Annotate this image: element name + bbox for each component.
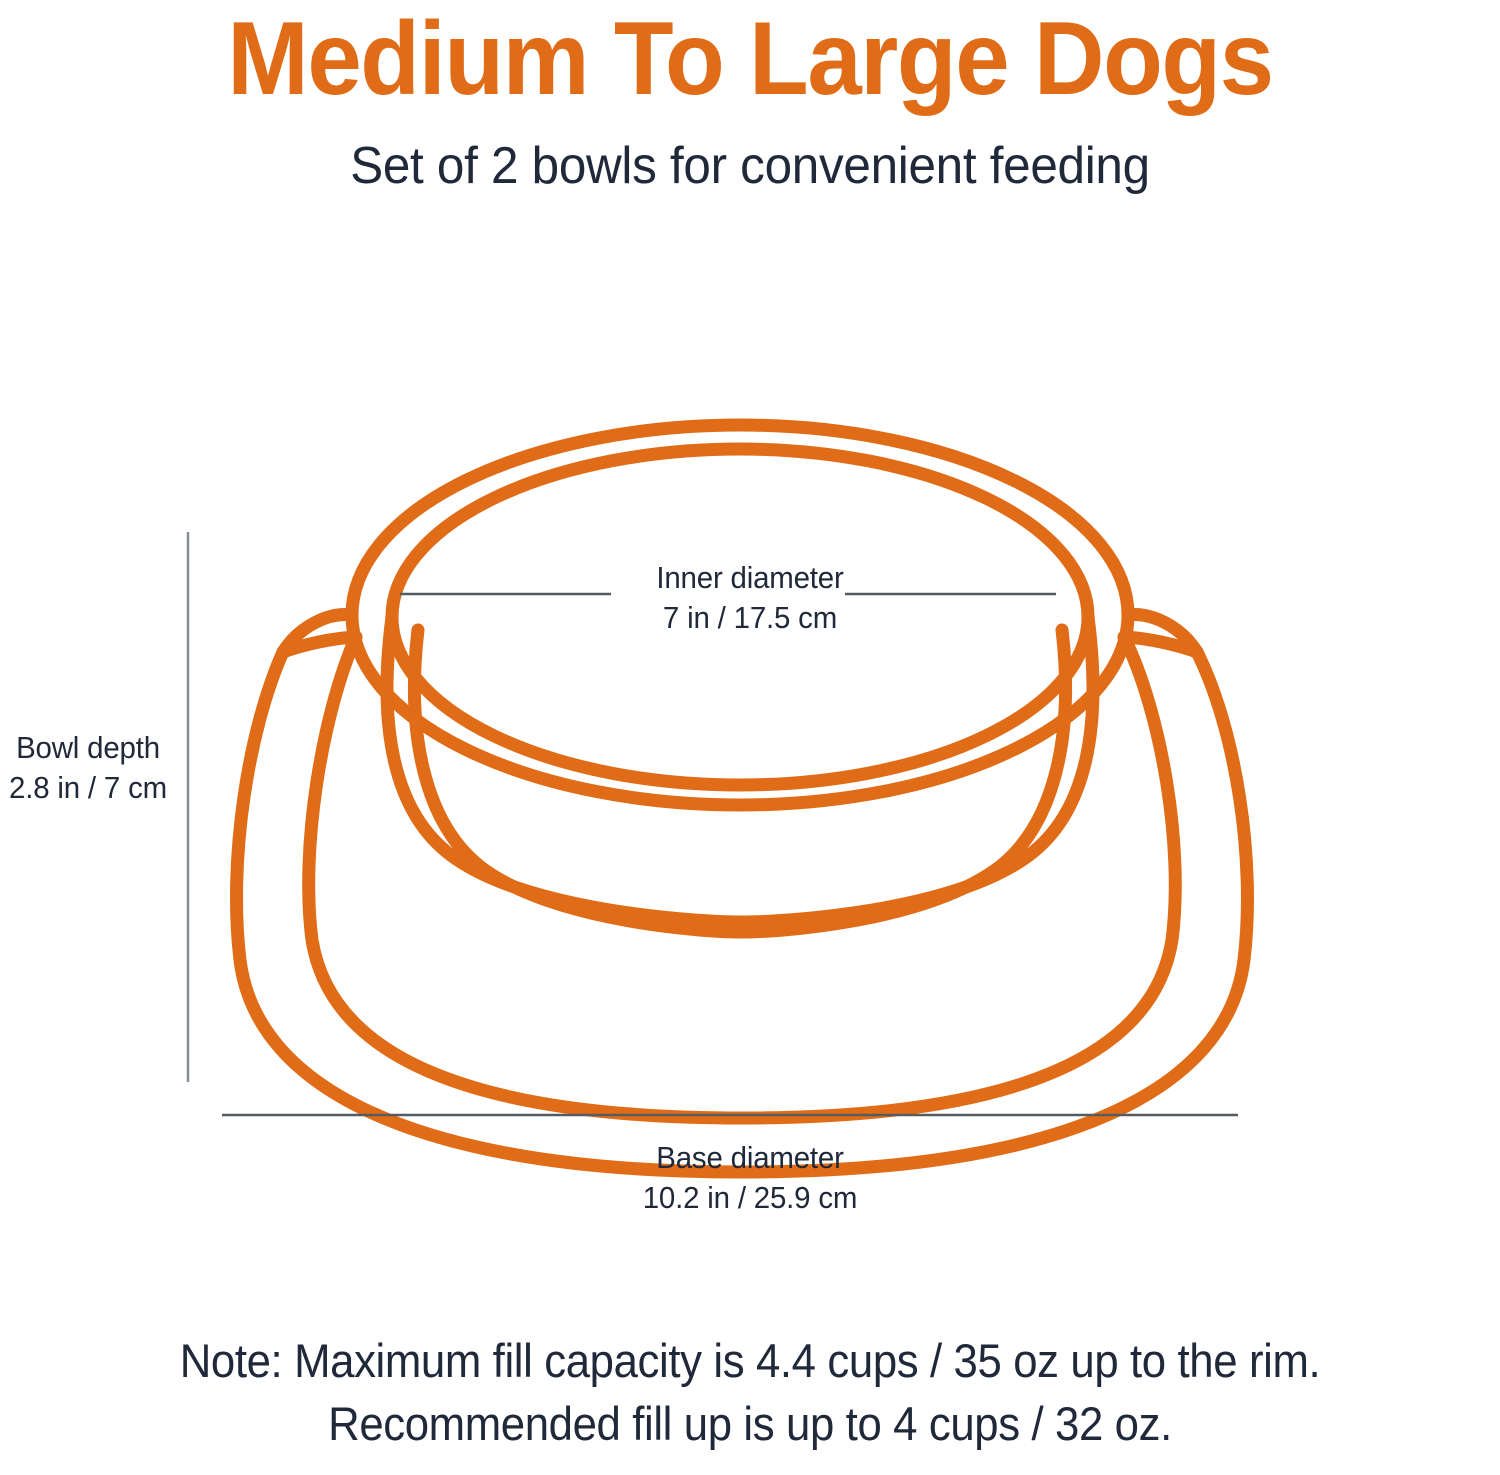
page-subtitle: Set of 2 bowls for convenient feeding (38, 112, 1463, 195)
bowl-illustration-svg (0, 300, 1500, 1260)
base-diameter-label: Base diameter 10.2 in / 25.9 cm (541, 1138, 959, 1217)
note-line-1: Note: Maximum fill capacity is 4.4 cups … (53, 1330, 1448, 1393)
note-line-2: Recommended fill up is up to 4 cups / 32… (53, 1393, 1448, 1456)
page-title: Medium To Large Dogs (45, 0, 1455, 112)
infographic-page: Medium To Large Dogs Set of 2 bowls for … (0, 0, 1500, 1475)
header: Medium To Large Dogs Set of 2 bowls for … (0, 0, 1500, 195)
inner-diameter-label-title: Inner diameter (656, 560, 843, 595)
bowl-outline-group (237, 425, 1248, 1172)
fill-capacity-note: Note: Maximum fill capacity is 4.4 cups … (53, 1330, 1448, 1456)
bowl-interior-taper-left (387, 617, 742, 922)
bowl-depth-label-title: Bowl depth (16, 730, 160, 765)
bowl-interior-taper-right (742, 617, 1093, 922)
bowl-depth-label: Bowl depth 2.8 in / 7 cm (4, 728, 171, 807)
inner-diameter-label-value: 7 in / 17.5 cm (560, 598, 940, 638)
base-diameter-label-title: Base diameter (656, 1140, 843, 1175)
bowl-diagram (0, 300, 1500, 1260)
bowl-depth-label-value: 2.8 in / 7 cm (4, 768, 171, 808)
inner-diameter-label: Inner diameter 7 in / 17.5 cm (560, 558, 940, 637)
base-diameter-label-value: 10.2 in / 25.9 cm (541, 1178, 959, 1218)
